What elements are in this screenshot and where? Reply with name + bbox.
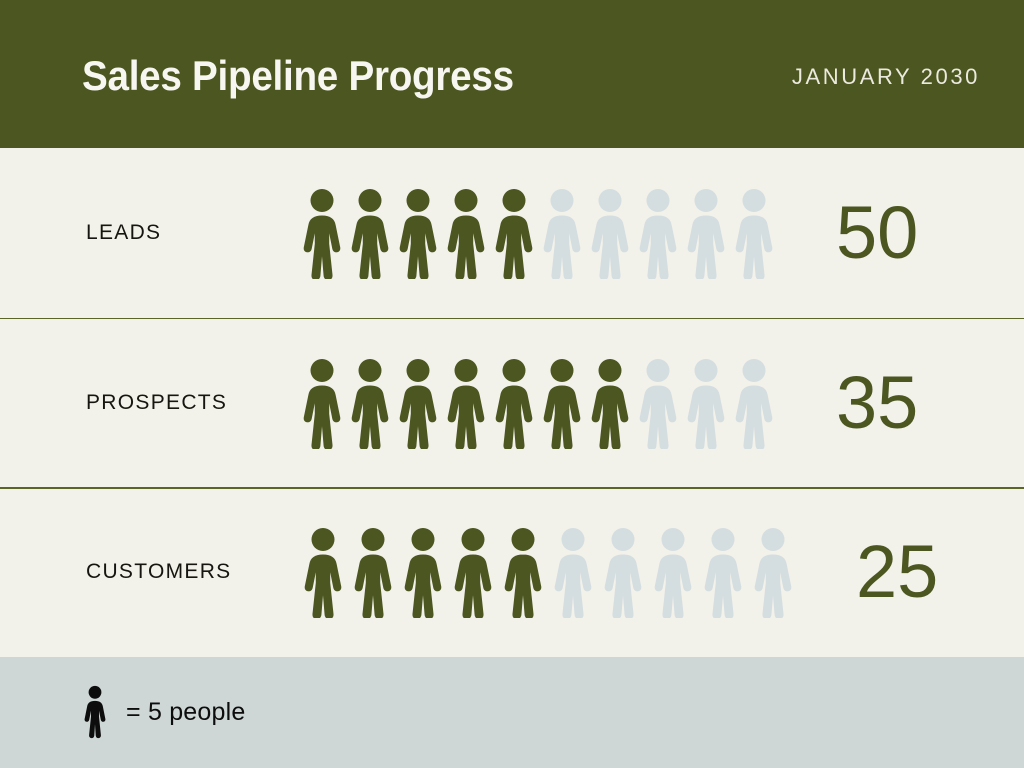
row-label-leads: LEADS — [86, 221, 298, 245]
person-icon — [348, 526, 398, 618]
infographic-slide: Sales Pipeline Progress JANUARY 2030 LEA… — [0, 0, 1024, 768]
pictogram-row-customers: CUSTOMERS 25 — [0, 487, 1024, 657]
person-icon — [346, 187, 394, 279]
person-icon — [682, 357, 730, 449]
person-icon — [80, 685, 110, 741]
icon-track-customers — [298, 524, 798, 620]
row-value-customers: 25 — [798, 535, 1024, 609]
person-icon — [398, 526, 448, 618]
legend-label: = 5 people — [126, 698, 245, 727]
icon-track-prospects — [298, 355, 778, 451]
icon-track-leads — [298, 185, 778, 281]
person-icon — [548, 526, 598, 618]
person-icon — [394, 187, 442, 279]
person-icon — [648, 526, 698, 618]
person-icon — [490, 187, 538, 279]
person-icon — [538, 187, 586, 279]
person-icon — [346, 357, 394, 449]
legend-bar: = 5 people — [0, 657, 1024, 768]
person-icon — [634, 357, 682, 449]
header-bar: Sales Pipeline Progress JANUARY 2030 — [0, 0, 1024, 148]
person-icon — [538, 357, 586, 449]
person-icon — [586, 187, 634, 279]
person-icon — [682, 187, 730, 279]
person-icon — [730, 187, 778, 279]
person-icon — [394, 357, 442, 449]
person-icon — [442, 357, 490, 449]
person-icon — [598, 526, 648, 618]
person-icon — [448, 526, 498, 618]
page-title: Sales Pipeline Progress — [82, 55, 514, 97]
person-icon — [298, 526, 348, 618]
person-icon — [498, 526, 548, 618]
person-icon — [586, 357, 634, 449]
pictogram-rows: LEADS 50 PROSPECTS 35 CUSTOMERS 25 — [0, 148, 1024, 657]
person-icon — [490, 357, 538, 449]
person-icon — [730, 357, 778, 449]
pictogram-row-prospects: PROSPECTS 35 — [0, 318, 1024, 488]
person-icon — [298, 187, 346, 279]
row-label-customers: CUSTOMERS — [86, 560, 298, 584]
person-icon — [748, 526, 798, 618]
row-value-leads: 50 — [778, 196, 1024, 270]
row-value-prospects: 35 — [778, 366, 1024, 440]
pictogram-row-leads: LEADS 50 — [0, 148, 1024, 318]
person-icon — [634, 187, 682, 279]
person-icon — [442, 187, 490, 279]
person-icon — [298, 357, 346, 449]
header-date: JANUARY 2030 — [792, 64, 980, 90]
person-icon — [698, 526, 748, 618]
row-label-prospects: PROSPECTS — [86, 391, 298, 415]
